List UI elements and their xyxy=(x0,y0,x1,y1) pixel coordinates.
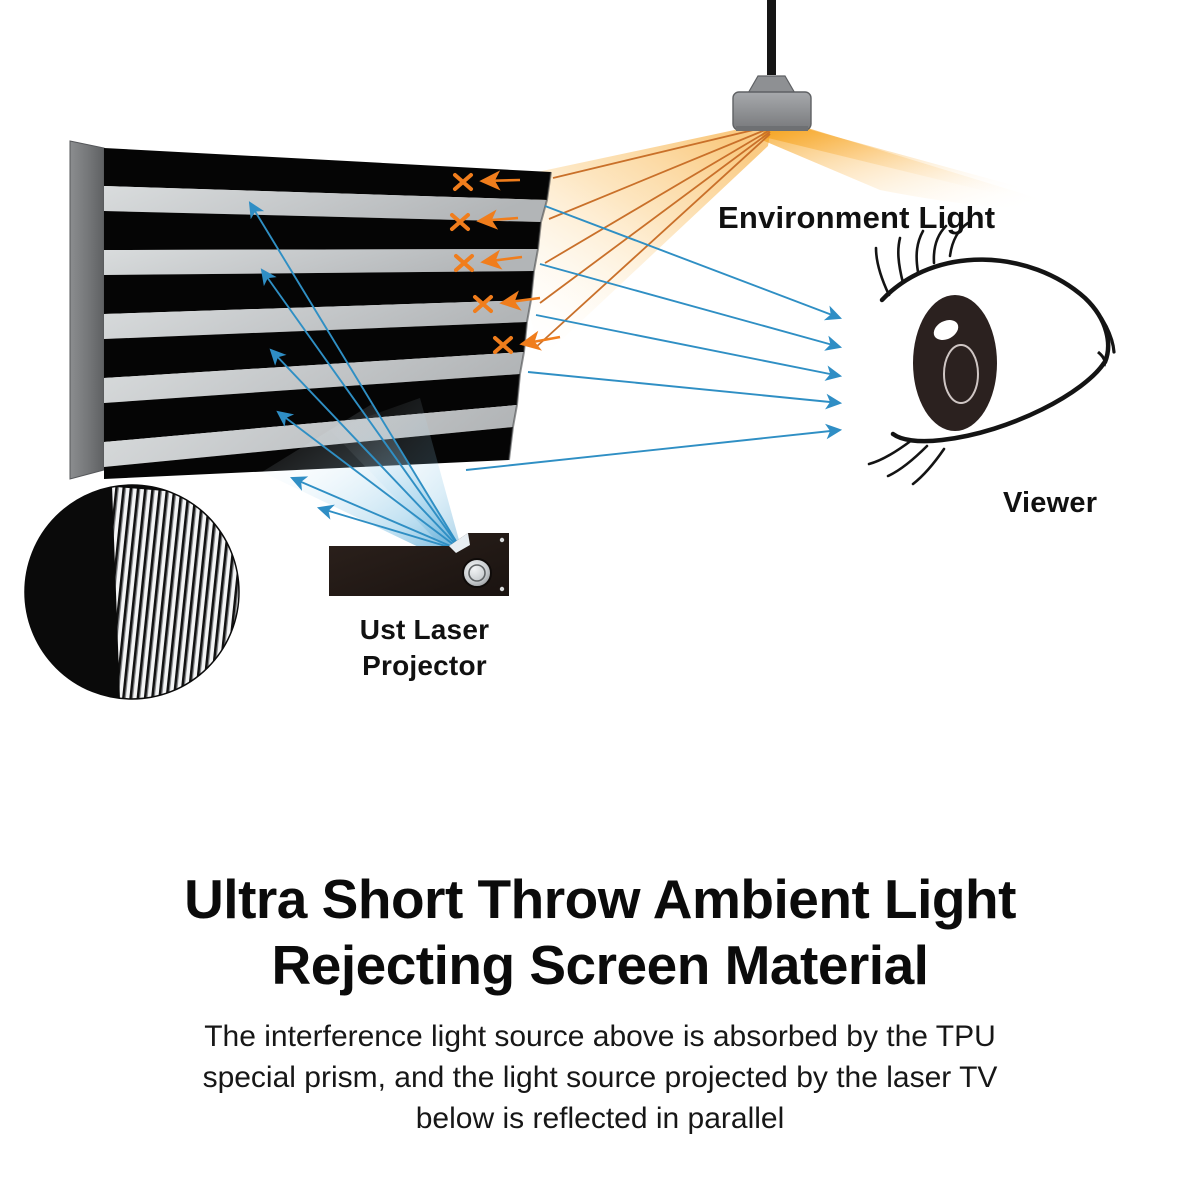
ceiling-lamp xyxy=(733,0,811,131)
environment-light-label: Environment Light xyxy=(718,200,995,236)
prism-tier-2 xyxy=(104,211,541,275)
lamp-housing xyxy=(733,92,811,130)
projector-label-line-1: Ust Laser xyxy=(360,614,489,645)
page-root: Environment Light Viewer Ust Laser Proje… xyxy=(0,0,1200,1200)
projector-label-line-2: Projector xyxy=(362,650,487,681)
page-subtitle: The interference light source above is a… xyxy=(135,1016,1065,1139)
page-subtitle-line-2: special prism, and the light source proj… xyxy=(135,1057,1065,1098)
prism-tier-1 xyxy=(104,148,551,222)
viewer-label: Viewer xyxy=(1003,487,1097,520)
caption-block: Ultra Short Throw Ambient Light Rejectin… xyxy=(0,866,1200,1139)
page-subtitle-line-3: below is reflected in parallel xyxy=(135,1098,1065,1139)
page-subtitle-line-1: The interference light source above is a… xyxy=(135,1016,1065,1057)
page-title-line-2: Rejecting Screen Material xyxy=(85,932,1115,998)
page-title-line-1: Ultra Short Throw Ambient Light xyxy=(85,866,1115,932)
diagram-canvas xyxy=(0,0,1200,760)
page-title: Ultra Short Throw Ambient Light Rejectin… xyxy=(85,866,1115,998)
optical-diagram: Environment Light Viewer Ust Laser Proje… xyxy=(0,0,1200,760)
magnifier-detail-circle xyxy=(25,485,250,700)
ust-laser-projector-label: Ust Laser Projector xyxy=(332,612,517,684)
alr-prism-stack xyxy=(104,148,551,479)
viewer-eye xyxy=(869,223,1114,484)
screen-backing-panel xyxy=(70,141,104,479)
lamp-rod xyxy=(767,0,776,75)
